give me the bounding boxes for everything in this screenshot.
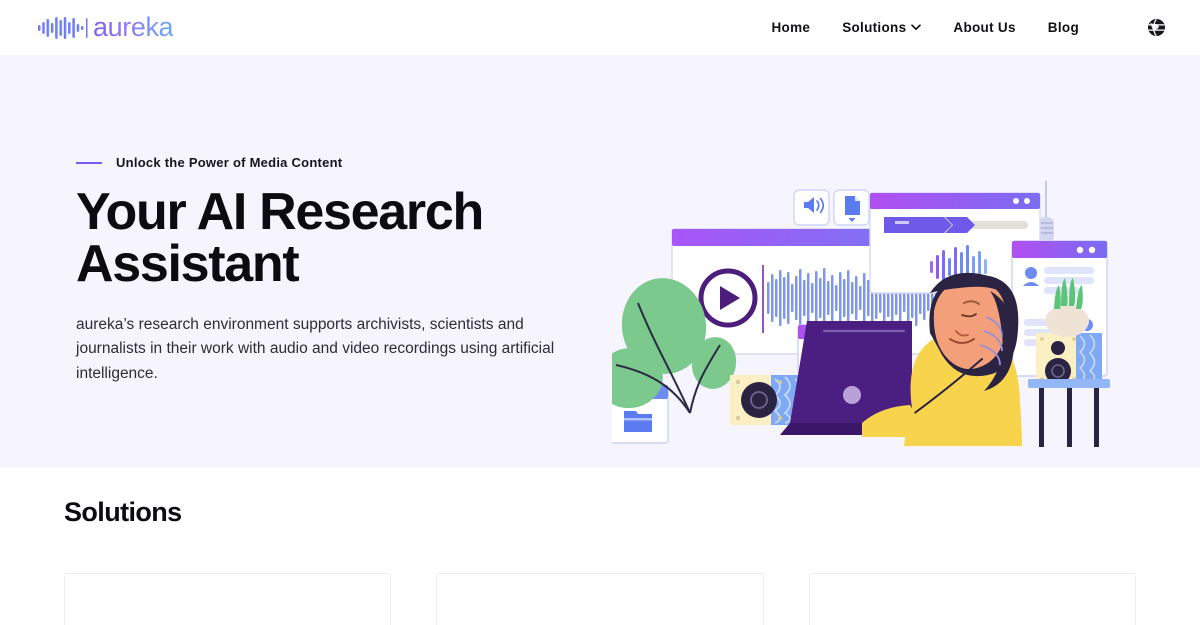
eyebrow-rule <box>76 162 102 164</box>
hero-copy: Unlock the Power of Media Content Your A… <box>76 155 636 386</box>
solution-card[interactable] <box>809 573 1136 625</box>
hero-title-line-2: Assistant <box>76 235 298 293</box>
nav-item-home[interactable]: Home <box>755 20 826 35</box>
solutions-card-grid <box>0 573 1200 625</box>
hero-section: Unlock the Power of Media Content Your A… <box>0 55 1200 467</box>
nav-label: Home <box>771 20 810 35</box>
nav-label: Blog <box>1048 20 1079 35</box>
logo[interactable]: aureka <box>38 14 173 41</box>
solutions-section: Solutions <box>0 467 1200 625</box>
waveform-icon <box>38 16 90 40</box>
language-selector[interactable] <box>1095 18 1166 37</box>
globe-icon <box>1147 18 1166 37</box>
nav-label: About Us <box>953 20 1015 35</box>
section-title-solutions: Solutions <box>64 497 1200 528</box>
speaker-volume-icon-button[interactable] <box>794 190 829 225</box>
nav-item-solutions[interactable]: Solutions <box>826 20 937 35</box>
logo-wordmark: aureka <box>90 14 173 41</box>
hero-title-line-1: Your AI Research <box>76 183 483 241</box>
eyebrow-text: Unlock the Power of Media Content <box>116 155 342 170</box>
nav-item-about-us[interactable]: About Us <box>937 20 1031 35</box>
nav-label: Solutions <box>842 20 906 35</box>
main-nav: Home Solutions About Us Blog <box>755 18 1166 37</box>
hero-illustration <box>612 173 1132 467</box>
solution-card[interactable] <box>64 573 391 625</box>
hero-subtitle: aureka’s research environment supports a… <box>76 313 591 386</box>
chevron-down-icon <box>911 24 921 31</box>
hero-title: Your AI Research Assistant <box>76 186 636 290</box>
solution-card[interactable] <box>436 573 763 625</box>
document-download-icon-button[interactable] <box>834 190 869 225</box>
site-header: aureka Home Solutions About Us Blog <box>0 0 1200 55</box>
nav-item-blog[interactable]: Blog <box>1032 20 1095 35</box>
hero-eyebrow: Unlock the Power of Media Content <box>76 155 636 170</box>
